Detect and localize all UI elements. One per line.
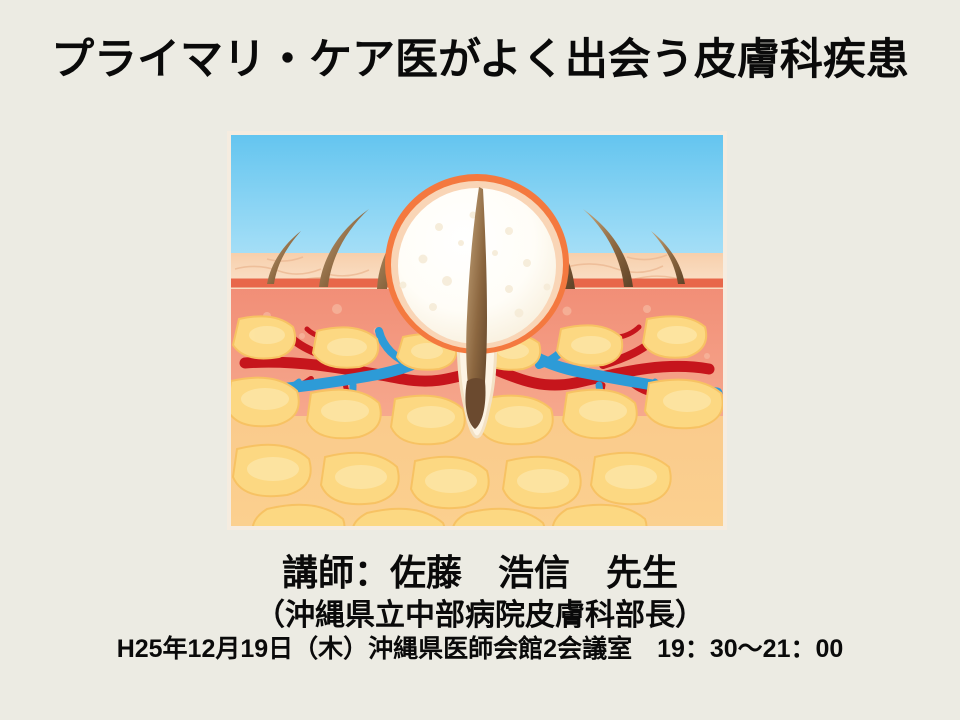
page-title: プライマリ・ケア医がよく出会う皮膚科疾患 xyxy=(0,36,960,85)
presentation-slide: プライマリ・ケア医がよく出会う皮膚科疾患 xyxy=(0,0,960,720)
affiliation-caption: （沖縄県立中部病院皮膚科部長） xyxy=(0,590,960,634)
schedule-caption: H25年12月19日（木）沖縄県医師会館2会議室 19：30〜21：00 xyxy=(0,629,960,665)
skin-anatomy-svg xyxy=(227,131,727,530)
skin-cross-section-illustration xyxy=(227,131,727,530)
lecturer-caption: 講師：佐藤 浩信 先生 xyxy=(0,544,960,596)
